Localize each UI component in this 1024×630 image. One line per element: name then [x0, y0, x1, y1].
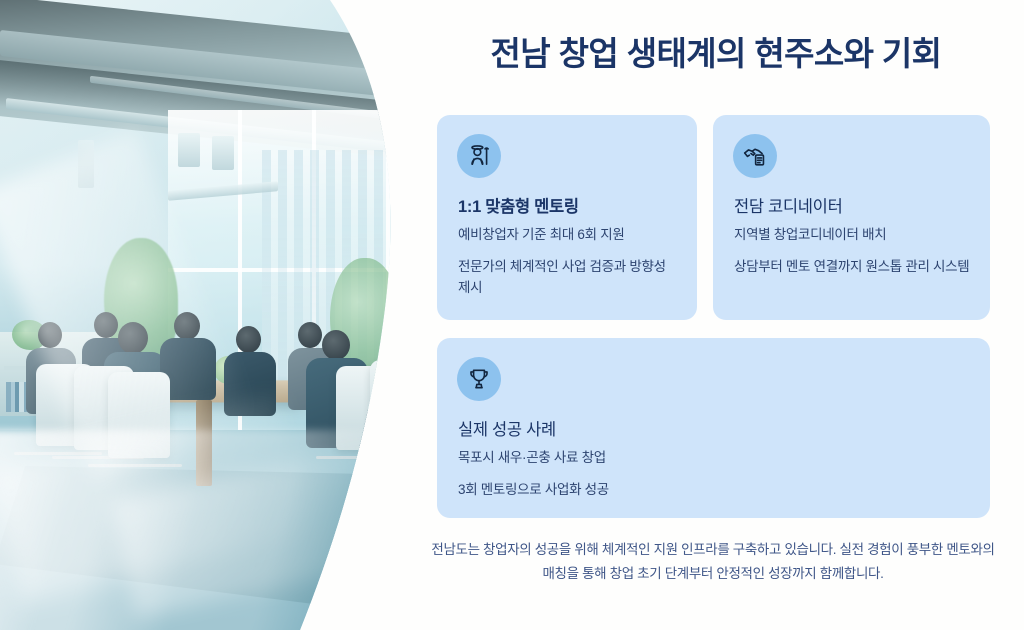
page-title: 전남 창업 생태계의 현주소와 기회 — [436, 33, 996, 74]
pendant-light-2 — [212, 136, 234, 170]
chair-right-far — [370, 360, 400, 436]
feature-card-success-case[interactable]: 실제 성공 사례 목포시 새우·곤충 사료 창업 3회 멘토링으로 사업화 성공 — [437, 338, 990, 518]
card-line-2: 3회 멘토링으로 사업화 성공 — [458, 480, 973, 501]
floor-reflection — [0, 430, 400, 630]
card-title: 실제 성공 사례 — [458, 416, 556, 440]
card-line-2: 상담부터 멘토 연결까지 원스톱 관리 시스템 — [734, 257, 973, 278]
card-line-2: 전문가의 체계적인 사업 검증과 방향성 제시 — [458, 257, 680, 299]
handshake-document-icon — [733, 134, 777, 178]
card-line-1: 예비창업자 기준 최대 6회 지원 — [458, 225, 680, 246]
card-line-1: 지역별 창업코디네이터 배치 — [734, 225, 973, 246]
content-column: 전남 창업 생태계의 현주소와 기회 1:1 맞춤형 멘토링 예비창업자 기준 … — [400, 0, 1024, 630]
pendant-light-1 — [178, 133, 200, 167]
footer-note: 전남도는 창업자의 성공을 위해 체계적인 지원 인프라를 구축하고 있습니다.… — [426, 538, 1000, 585]
trophy-icon — [457, 357, 501, 401]
card-line-1: 목포시 새우·곤충 사료 창업 — [458, 448, 973, 469]
office-meeting-photo — [0, 0, 400, 630]
feature-card-mentoring[interactable]: 1:1 맞춤형 멘토링 예비창업자 기준 최대 6회 지원 전문가의 체계적인 … — [437, 115, 697, 320]
slide-root: 전남 창업 생태계의 현주소와 기회 1:1 맞춤형 멘토링 예비창업자 기준 … — [0, 0, 1024, 630]
card-title: 1:1 맞춤형 멘토링 — [458, 193, 579, 217]
pendant-light-3 — [78, 140, 94, 188]
feature-card-coordinator[interactable]: 전담 코디네이터 지역별 창업코디네이터 배치 상담부터 멘토 연결까지 원스톱… — [713, 115, 990, 320]
card-title: 전담 코디네이터 — [734, 193, 842, 217]
mentor-icon — [457, 134, 501, 178]
